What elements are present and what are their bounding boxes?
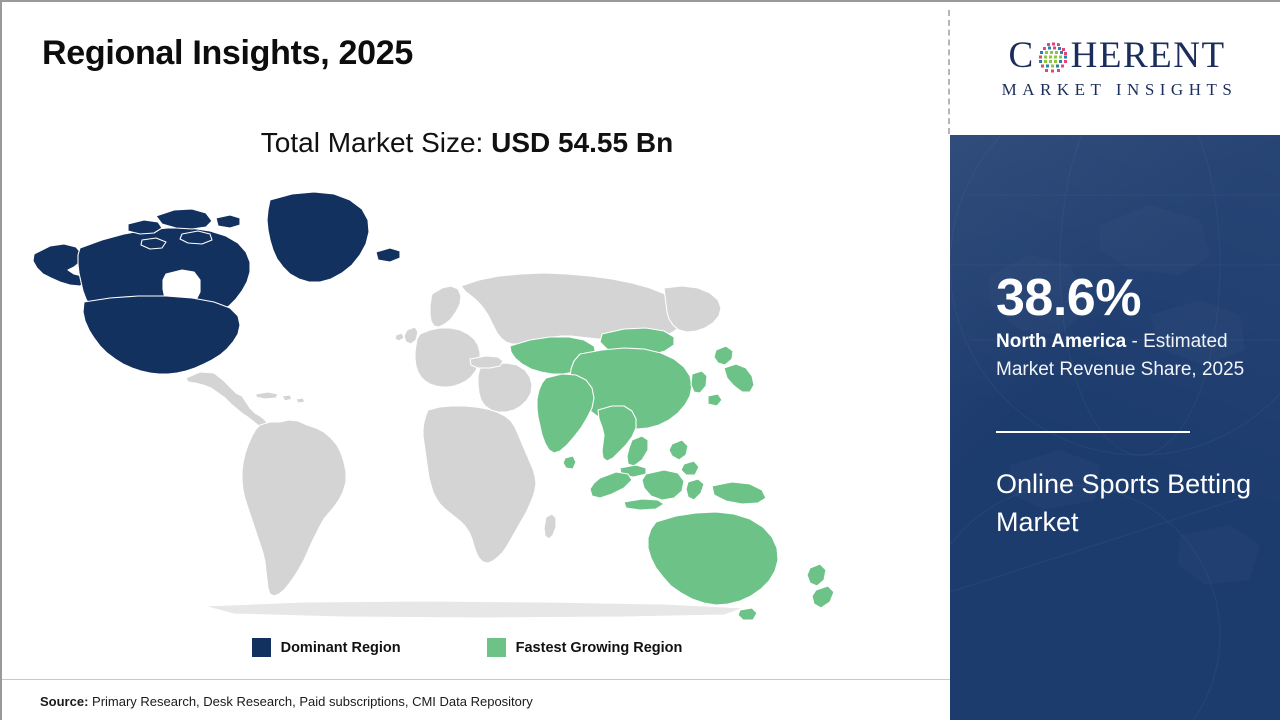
map-dominant-regions: [33, 192, 400, 374]
world-map: [24, 182, 904, 622]
company-logo: C: [952, 2, 1280, 135]
stat-panel-content: 38.6% North America - Estimated Market R…: [996, 135, 1264, 720]
market-share-caption: North America - Estimated Market Revenue…: [996, 328, 1260, 383]
legend-swatch-dominant-icon: [252, 638, 271, 657]
legend-swatch-fastest-icon: [487, 638, 506, 657]
world-map-svg: [24, 182, 904, 622]
vertical-dashed-divider: [948, 10, 950, 134]
page-title: Regional Insights, 2025: [42, 34, 413, 73]
logo-wordmark: C: [1008, 37, 1225, 74]
left-content-panel: Regional Insights, 2025 Total Market Siz…: [2, 2, 950, 720]
logo-letter-c: C: [1008, 37, 1034, 74]
infographic-root: Regional Insights, 2025 Total Market Siz…: [0, 0, 1280, 720]
legend-label-dominant: Dominant Region: [281, 640, 401, 656]
region-name: North America: [996, 331, 1126, 352]
logo-letters-herent: HERENT: [1071, 37, 1226, 74]
globe-icon: [1036, 41, 1070, 75]
map-legend: Dominant Region Fastest Growing Region: [2, 638, 932, 657]
source-text: Primary Research, Desk Research, Paid su…: [88, 694, 532, 709]
logo-subtitle: MARKET INSIGHTS: [997, 80, 1238, 100]
stat-panel-divider: [996, 431, 1190, 433]
market-size-label: Total Market Size:: [261, 127, 491, 158]
legend-item-dominant: Dominant Region: [252, 638, 401, 657]
map-fastest-growing-regions: [510, 328, 834, 620]
legend-label-fastest-growing: Fastest Growing Region: [516, 640, 683, 656]
market-size-value: USD 54.55 Bn: [491, 127, 673, 158]
market-share-percent: 38.6%: [996, 272, 1141, 324]
source-label: Source:: [40, 694, 88, 709]
source-note: Source: Primary Research, Desk Research,…: [40, 694, 533, 709]
footer-divider: [2, 679, 950, 680]
market-name: Online Sports Betting Market: [996, 465, 1258, 542]
total-market-size: Total Market Size: USD 54.55 Bn: [2, 127, 932, 159]
stat-panel: 38.6% North America - Estimated Market R…: [950, 135, 1280, 720]
legend-item-fastest-growing: Fastest Growing Region: [487, 638, 683, 657]
